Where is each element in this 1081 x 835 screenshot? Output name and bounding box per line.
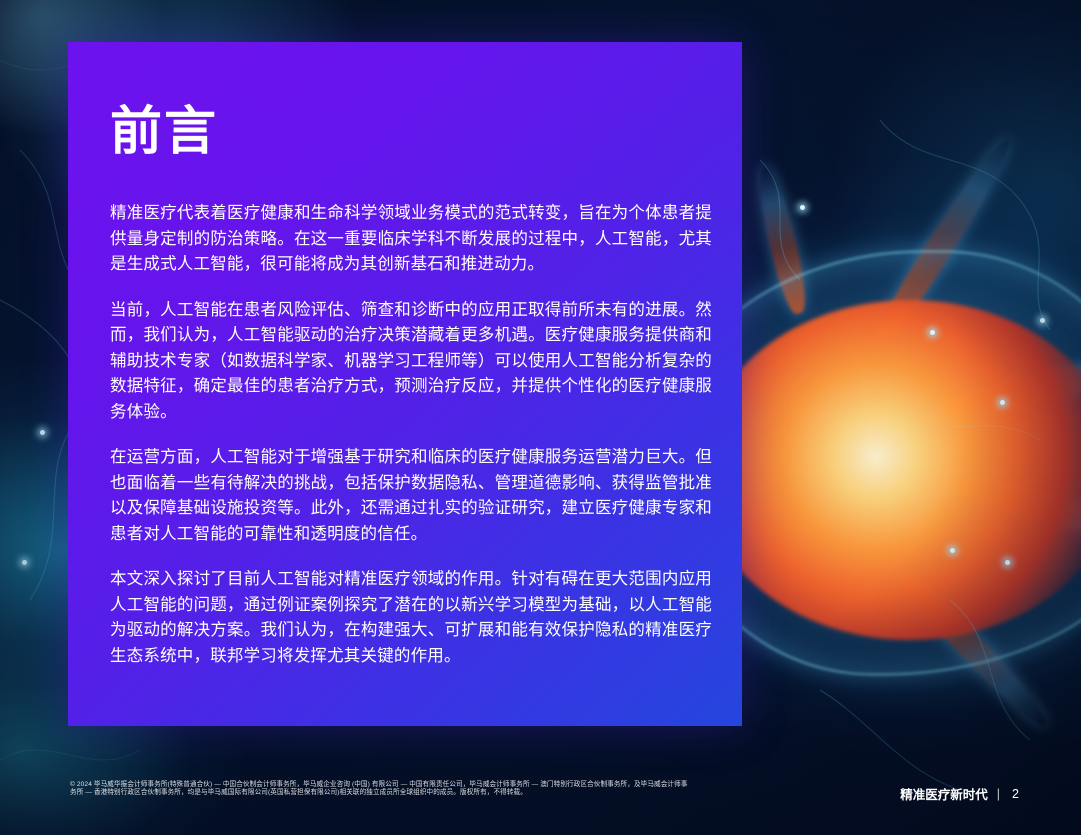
paragraph: 在运营方面，人工智能对于增强基于研究和临床的医疗健康服务运营潜力巨大。但也面临着…	[110, 445, 712, 547]
slide-page: 前言 精准医疗代表着医疗健康和生命科学领域业务模式的范式转变，旨在为个体患者提供…	[0, 0, 1081, 835]
content-panel: 前言 精准医疗代表着医疗健康和生命科学领域业务模式的范式转变，旨在为个体患者提供…	[68, 42, 742, 726]
paragraph: 精准医疗代表着医疗健康和生命科学领域业务模式的范式转变，旨在为个体患者提供量身定…	[110, 201, 712, 278]
page-title: 前言	[110, 104, 712, 161]
footer-page-number: 2	[1009, 787, 1019, 801]
panel-content: 前言 精准医疗代表着医疗健康和生命科学领域业务模式的范式转变，旨在为个体患者提供…	[110, 104, 712, 669]
paragraph: 当前，人工智能在患者风险评估、筛查和诊断中的应用正取得前所未有的进展。然而，我们…	[110, 298, 712, 426]
body-text: 精准医疗代表着医疗健康和生命科学领域业务模式的范式转变，旨在为个体患者提供量身定…	[110, 201, 712, 669]
footer-copyright: © 2024 毕马威华振会计师事务所(特殊普通合伙) — 中国合伙制会计师事务所…	[70, 781, 690, 798]
paragraph: 本文深入探讨了目前人工智能对精准医疗领域的作用。针对有碍在更大范围内应用人工智能…	[110, 567, 712, 669]
footer-report-name: 精准医疗新时代	[900, 784, 988, 803]
footer-meta: 精准医疗新时代 | 2	[900, 784, 1019, 803]
footer-divider: |	[997, 787, 1000, 801]
